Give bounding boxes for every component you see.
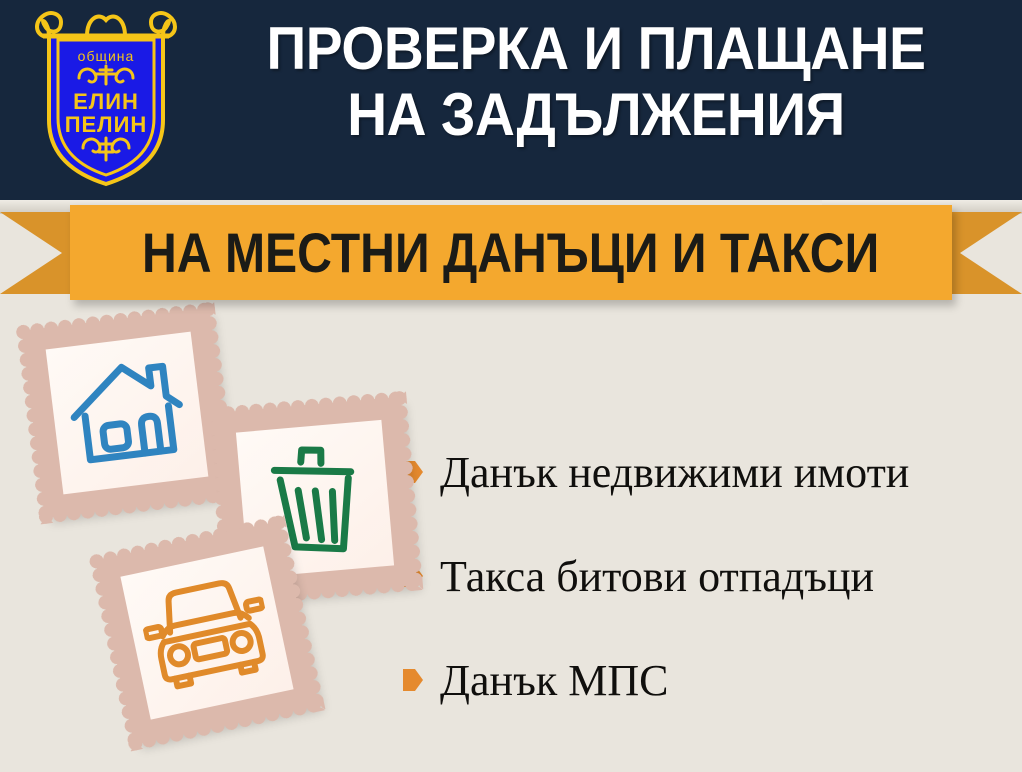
list-item-label: Данък МПС	[440, 655, 668, 706]
svg-text:община: община	[78, 48, 135, 64]
list-item-label: Такса битови отпадъци	[440, 551, 874, 602]
list-item[interactable]: Такса битови отпадъци	[402, 524, 1014, 628]
stamp-card-car	[97, 523, 318, 744]
list-item[interactable]: Данък недвижими имоти	[402, 420, 1014, 524]
header-bar: община ЕЛИН ПЕЛИН	[0, 0, 1022, 200]
page-title-line-2: НА ЗАДЪЛЖЕНИЯ	[219, 82, 973, 148]
stamp-inner-house	[46, 332, 209, 495]
svg-text:ПЕЛИН: ПЕЛИН	[65, 112, 148, 137]
stamp-inner-car	[120, 546, 293, 719]
list-item-label: Данък недвижими имоти	[440, 447, 909, 498]
header-title-block: ПРОВЕРКА И ПЛАЩАНЕ НА ЗАДЪЛЖЕНИЯ	[186, 16, 1006, 148]
poster-root: община ЕЛИН ПЕЛИН	[0, 0, 1022, 772]
list-item[interactable]: Данък МПС	[402, 628, 1014, 732]
car-front-icon	[136, 569, 279, 697]
stamp-card-house	[23, 309, 230, 516]
ribbon-banner: НА МЕСТНИ ДАНЪЦИ И ТАКСИ	[0, 200, 1022, 310]
svg-text:ЕЛИН: ЕЛИН	[73, 89, 139, 114]
services-list: Данък недвижими имоти Такса битови отпад…	[402, 420, 1014, 732]
arrow-bullet-icon	[402, 667, 424, 693]
ribbon-label: НА МЕСТНИ ДАНЪЦИ И ТАКСИ	[142, 220, 879, 285]
municipality-logo: община ЕЛИН ПЕЛИН	[31, 8, 181, 188]
ribbon-band: НА МЕСТНИ ДАНЪЦИ И ТАКСИ	[70, 205, 952, 300]
house-icon	[62, 350, 193, 476]
page-title-line-1: ПРОВЕРКА И ПЛАЩАНЕ	[219, 16, 973, 82]
